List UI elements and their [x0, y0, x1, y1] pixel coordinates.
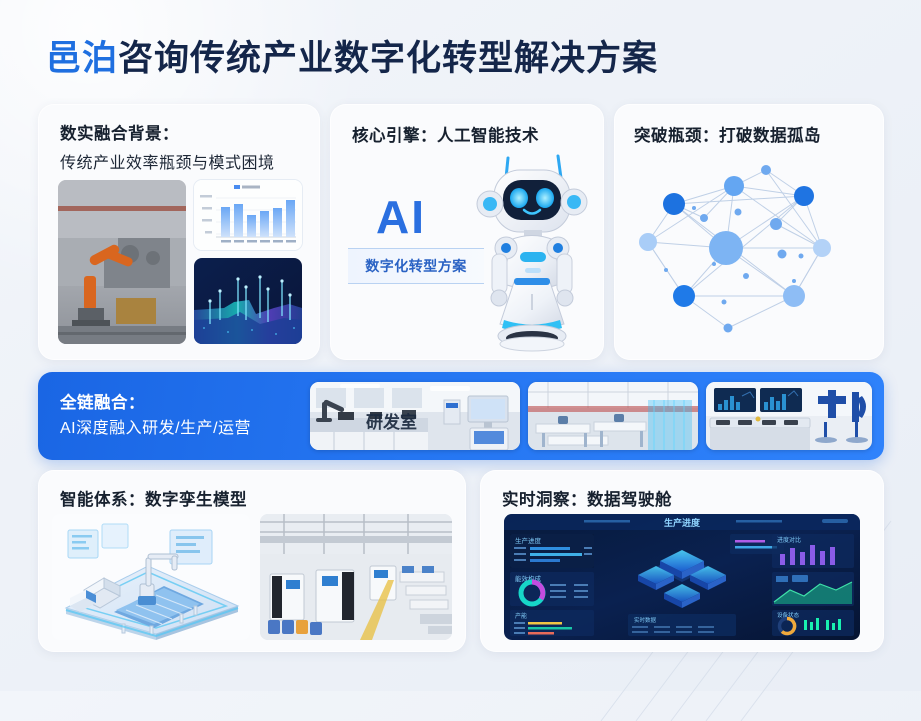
data-visualization-panel: [194, 258, 302, 344]
smart-factory-photo: [260, 514, 452, 640]
card-title-background: 数实融合背景：: [60, 120, 179, 144]
digital-twin-isometric-illustration: [52, 514, 250, 640]
banner-title: 全链融合：: [60, 389, 145, 413]
data-cockpit-dashboard: 生产进度 生产进度 能效构成: [504, 514, 860, 640]
brand-name: 邑泊: [46, 39, 118, 78]
network-graph-illustration: [626, 156, 872, 348]
page-title-rest: 咨询传统产业数字化转型解决方案: [118, 39, 658, 78]
ai-big-label: AI: [376, 190, 426, 244]
production-line-thumbnail: [528, 382, 698, 450]
card-title-dashboard: 实时洞察：数据驾驶舱: [502, 486, 672, 510]
card-title-digital-twin: 智能体系：数字孪生模型: [60, 486, 247, 510]
laboratory-thumbnail: 研发室: [310, 382, 520, 450]
svg-text:生产进度: 生产进度: [664, 517, 701, 529]
control-center-thumbnail: [706, 382, 872, 450]
banner-full-chain-integration[interactable]: 全链融合： AI深度融入研发/生产/运营: [38, 372, 884, 460]
card-digital-twin-model[interactable]: 智能体系：数字孪生模型: [38, 470, 466, 652]
production-bar-chart: [194, 180, 302, 250]
card-title-ai-engine: 核心引擎：人工智能技术: [352, 122, 539, 146]
card-subtitle-background: 传统产业效率瓶颈与模式困境: [60, 149, 275, 173]
svg-text:研发室: 研发室: [366, 412, 417, 433]
ai-robot-illustration: [462, 148, 602, 353]
banner-subtitle: AI深度融入研发/生产/运营: [60, 414, 251, 438]
card-title-network: 突破瓶颈：打破数据孤岛: [634, 122, 821, 146]
industrial-robot-arm-photo: [58, 180, 186, 344]
svg-text:进度对比: 进度对比: [777, 536, 801, 544]
ai-tag-label: 数字化转型方案: [365, 256, 467, 276]
svg-text:产能: 产能: [515, 612, 527, 620]
card-digital-reality-background[interactable]: 数实融合背景： 传统产业效率瓶颈与模式困境: [38, 104, 320, 360]
svg-text:实时数据: 实时数据: [634, 616, 657, 624]
svg-text:生产进度: 生产进度: [515, 536, 542, 545]
card-break-data-silos[interactable]: 突破瓶颈：打破数据孤岛: [614, 104, 884, 360]
card-ai-core-engine[interactable]: 核心引擎：人工智能技术 AI 数字化转型方案: [330, 104, 604, 360]
page-title: 邑泊咨询传统产业数字化转型解决方案: [46, 30, 658, 81]
card-data-cockpit[interactable]: 实时洞察：数据驾驶舱 生产进度 生产进度: [480, 470, 884, 652]
